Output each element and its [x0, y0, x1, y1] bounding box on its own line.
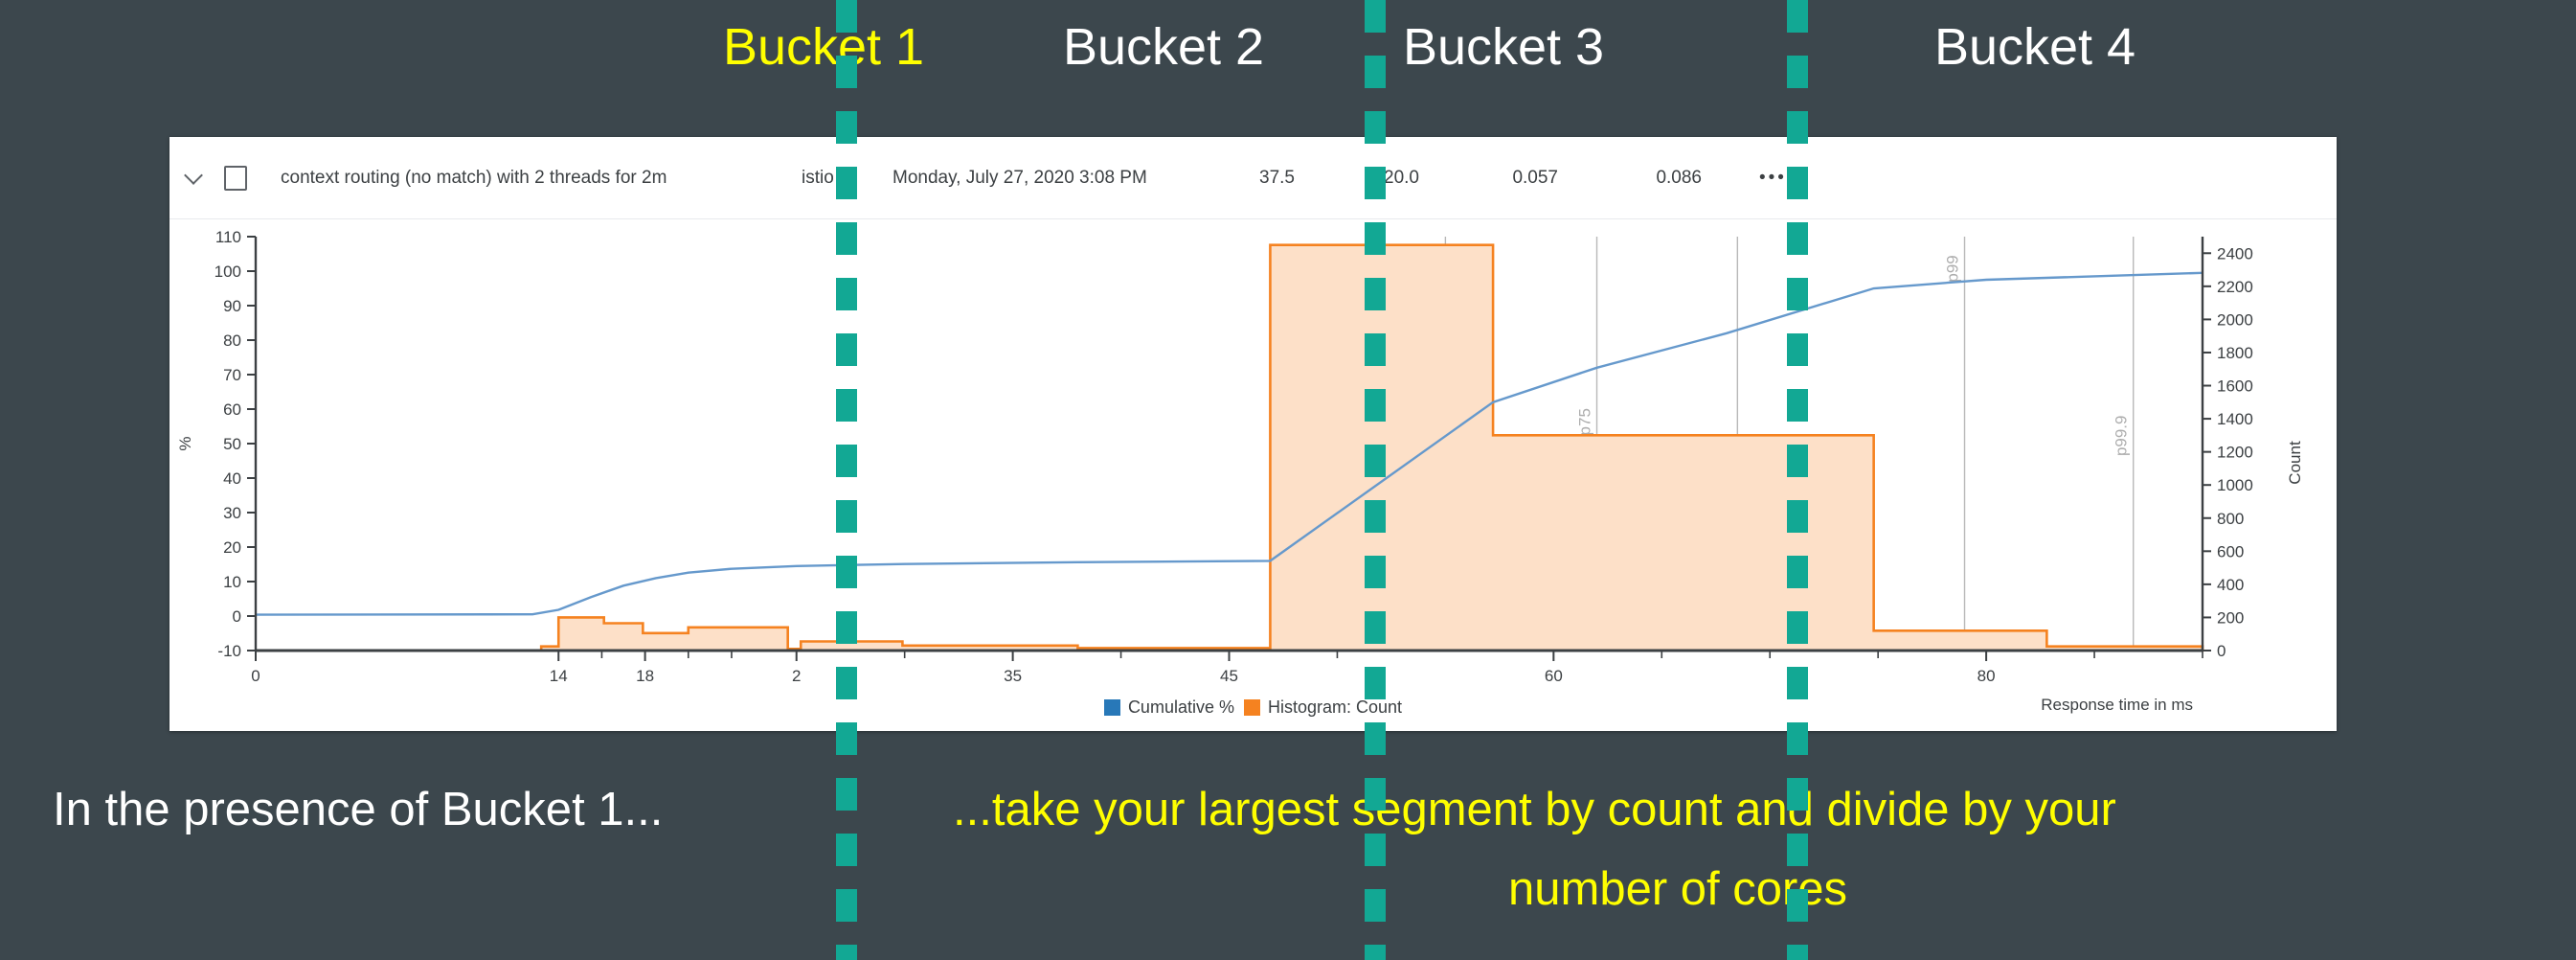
row-timestamp: Monday, July 27, 2020 3:08 PM: [893, 137, 1147, 219]
slide-root: Bucket 1Bucket 2Bucket 3Bucket 4 context…: [0, 0, 2576, 960]
percentile-label-p75: p75: [1576, 408, 1594, 435]
caption-left: In the presence of Bucket 1...: [53, 781, 663, 838]
left-axis-tick-label: 50: [223, 435, 241, 453]
divider-2: [1365, 0, 1386, 960]
x-axis-tick-label: 45: [1220, 667, 1238, 685]
divider-3: [1787, 0, 1808, 960]
left-axis-tick-label: 80: [223, 331, 241, 350]
left-axis-tick-label: 10: [223, 573, 241, 591]
percentile-label-p99: p99: [1944, 255, 1962, 282]
left-axis-tick-label: 20: [223, 538, 241, 557]
row-checkbox[interactable]: [224, 166, 247, 191]
right-axis-tick-label: 0: [2217, 642, 2226, 660]
bucket-title-1: Bucket 1: [661, 17, 986, 77]
result-card: context routing (no match) with 2 thread…: [169, 137, 2337, 731]
chart-plot: p50p75p90p99p99.9-1001020304050607080901…: [169, 219, 2337, 731]
legend-label: Cumulative %: [1128, 697, 1234, 718]
x-axis-tick-label: 18: [636, 667, 654, 685]
histogram-area: [256, 245, 2203, 651]
left-axis-tick-label: 90: [223, 297, 241, 315]
bucket-title-4: Bucket 4: [1872, 17, 2198, 77]
row-metric-3: 0.057: [1472, 137, 1558, 219]
left-axis-tick-label: 70: [223, 366, 241, 384]
right-axis-tick-label: 2000: [2217, 310, 2253, 329]
chart-svg-container: p50p75p90p99p99.9-1001020304050607080901…: [169, 219, 2337, 731]
left-axis-title: %: [176, 436, 194, 450]
right-axis-tick-label: 1000: [2217, 476, 2253, 494]
right-axis-tick-label: 1600: [2217, 377, 2253, 396]
legend-swatch-icon: [1104, 699, 1120, 716]
right-axis-title: Count: [2286, 441, 2304, 485]
row-metric-1: 37.5: [1209, 137, 1295, 219]
x-axis-tick-label: 80: [1977, 667, 1996, 685]
result-row-header[interactable]: context routing (no match) with 2 thread…: [169, 137, 2337, 219]
bucket-title-3: Bucket 3: [1341, 17, 1666, 77]
divider-1: [836, 0, 857, 960]
left-axis-tick-label: 60: [223, 400, 241, 419]
row-metric-4: 0.086: [1616, 137, 1702, 219]
right-axis-tick-label: 400: [2217, 576, 2244, 594]
x-axis-tick-label: 35: [1004, 667, 1022, 685]
percentile-label-p99.9: p99.9: [2113, 415, 2131, 456]
right-axis-tick-label: 1200: [2217, 444, 2253, 462]
x-axis-tick-label: 2: [792, 667, 801, 685]
right-axis-tick-label: 1800: [2217, 344, 2253, 362]
x-axis-tick-label: 60: [1545, 667, 1563, 685]
row-name: context routing (no match) with 2 thread…: [281, 137, 667, 219]
chevron-down-icon[interactable]: [184, 166, 203, 185]
left-axis-tick-label: -10: [217, 642, 241, 660]
right-axis-tick-label: 600: [2217, 542, 2244, 560]
left-axis-tick-label: 40: [223, 469, 241, 488]
bucket-title-2: Bucket 2: [1001, 17, 1326, 77]
left-axis-tick-label: 110: [215, 228, 241, 246]
right-axis-tick-label: 800: [2217, 510, 2244, 528]
x-axis-tick-label: 14: [550, 667, 568, 685]
x-axis-tick-label: 0: [251, 667, 260, 685]
right-axis-tick-label: 2200: [2217, 278, 2253, 296]
cumulative-line: [256, 273, 2203, 615]
left-axis-tick-label: 30: [223, 504, 241, 522]
legend-item-0[interactable]: Cumulative %: [1104, 697, 1234, 718]
right-axis-tick-label: 200: [2217, 608, 2244, 627]
chart-svg: p50p75p90p99p99.9-1001020304050607080901…: [169, 219, 2337, 731]
left-axis-tick-label: 0: [233, 607, 241, 626]
caption-right-line1: ...take your largest segment by count an…: [953, 781, 2116, 838]
row-tag: istio: [802, 137, 834, 219]
legend-swatch-icon: [1244, 699, 1260, 716]
left-axis-tick-label: 100: [215, 263, 241, 281]
right-axis-tick-label: 2400: [2217, 244, 2253, 263]
chart-legend: Cumulative %Histogram: Count: [169, 697, 2337, 718]
row-overflow-menu-icon[interactable]: •••: [1759, 137, 1787, 219]
right-axis-tick-label: 1400: [2217, 410, 2253, 428]
